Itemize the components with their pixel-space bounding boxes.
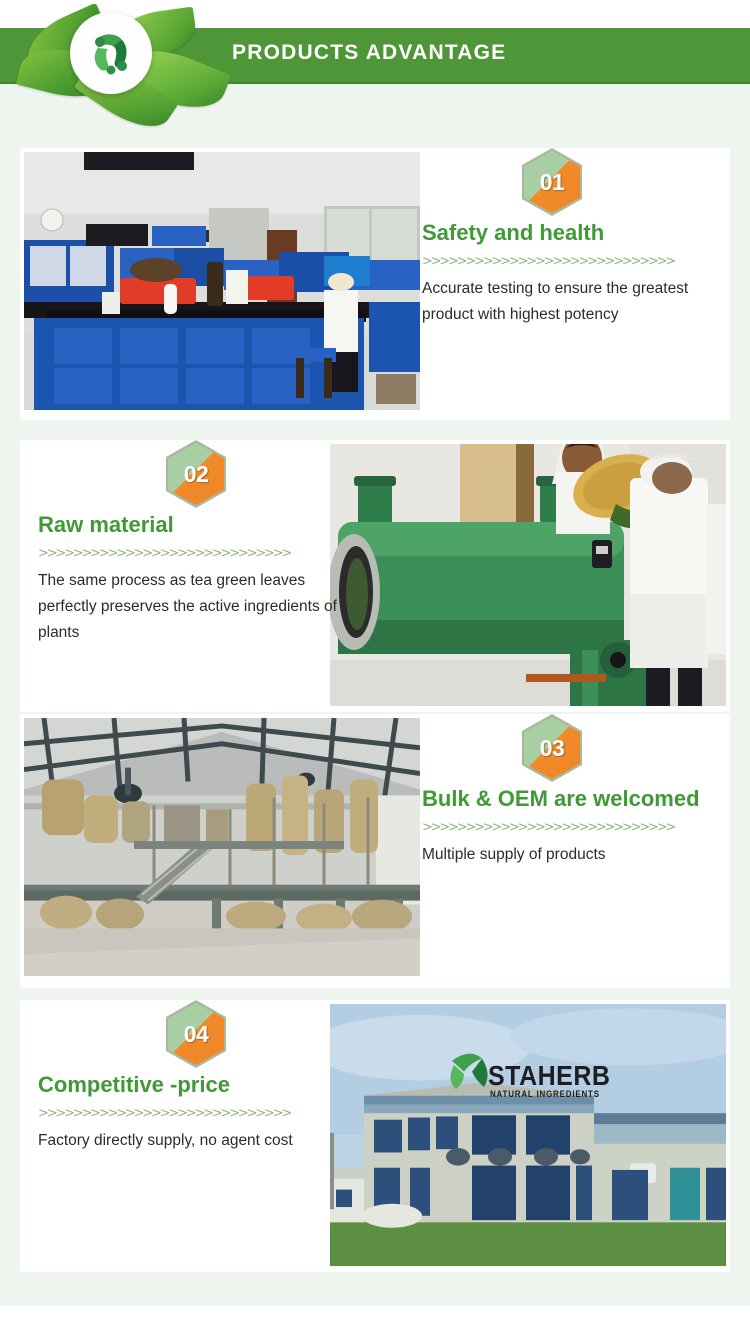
advantage-card-01: 01 Safety and health >>>>>>>>>>>>>>>>>>>… xyxy=(20,148,730,420)
advantage-title: Safety and health xyxy=(422,220,722,246)
advantage-card-03: 03 Bulk & OEM are welcomed >>>>>>>>>>>>>… xyxy=(20,714,730,988)
badge-number: 03 xyxy=(522,714,582,782)
leaf-emblem-group xyxy=(18,0,228,118)
advantage-text-03: 03 Bulk & OEM are welcomed >>>>>>>>>>>>>… xyxy=(422,714,722,988)
laboratory-testing-photo xyxy=(24,152,420,410)
advantage-body: The same process as tea green leaves per… xyxy=(38,568,338,646)
advantage-text-01: 01 Safety and health >>>>>>>>>>>>>>>>>>>… xyxy=(422,148,722,420)
chevron-divider: >>>>>>>>>>>>>>>>>>>>>>>>>>>>> xyxy=(38,546,338,562)
svg-text:NATURAL INGREDIENTS: NATURAL INGREDIENTS xyxy=(490,1088,600,1098)
badge-number: 04 xyxy=(166,1000,226,1068)
badge-02: 02 xyxy=(166,440,226,508)
badge-03: 03 xyxy=(522,714,582,782)
tea-roasting-machine-photo xyxy=(330,444,726,706)
advantage-card-04: STAHERB NATURAL INGREDIENTS 04 Competiti… xyxy=(20,1000,730,1272)
staherb-logo-icon xyxy=(80,22,142,84)
advantage-text-04: 04 Competitive -price >>>>>>>>>>>>>>>>>>… xyxy=(38,1000,338,1272)
chevron-divider: >>>>>>>>>>>>>>>>>>>>>>>>>>>>> xyxy=(422,820,722,836)
badge-number: 01 xyxy=(522,148,582,216)
chevron-divider: >>>>>>>>>>>>>>>>>>>>>>>>>>>>> xyxy=(38,1106,338,1122)
advantage-body: Accurate testing to ensure the greatest … xyxy=(422,276,722,328)
chevron-divider: >>>>>>>>>>>>>>>>>>>>>>>>>>>>> xyxy=(422,254,722,270)
advantage-title: Raw material xyxy=(38,512,338,538)
page-title: PRODUCTS ADVANTAGE xyxy=(232,41,506,65)
advantage-text-02: 02 Raw material >>>>>>>>>>>>>>>>>>>>>>>>… xyxy=(38,440,338,712)
advantage-body: Factory directly supply, no agent cost xyxy=(38,1128,338,1154)
advantage-body: Multiple supply of products xyxy=(422,842,722,868)
advantage-card-02: 02 Raw material >>>>>>>>>>>>>>>>>>>>>>>>… xyxy=(20,440,730,712)
advantage-title: Competitive -price xyxy=(38,1072,338,1098)
products-advantage-page: PRODUCTS ADVANTAGE xyxy=(0,0,750,1326)
extraction-workshop-photo xyxy=(24,718,420,976)
badge-04: 04 xyxy=(166,1000,226,1068)
badge-number: 02 xyxy=(166,440,226,508)
bottom-white-strip xyxy=(0,1306,750,1326)
advantage-title: Bulk & OEM are welcomed xyxy=(422,786,722,812)
badge-01: 01 xyxy=(522,148,582,216)
staherb-factory-building-photo: STAHERB NATURAL INGREDIENTS xyxy=(330,1004,726,1266)
svg-text:STAHERB: STAHERB xyxy=(488,1060,610,1091)
